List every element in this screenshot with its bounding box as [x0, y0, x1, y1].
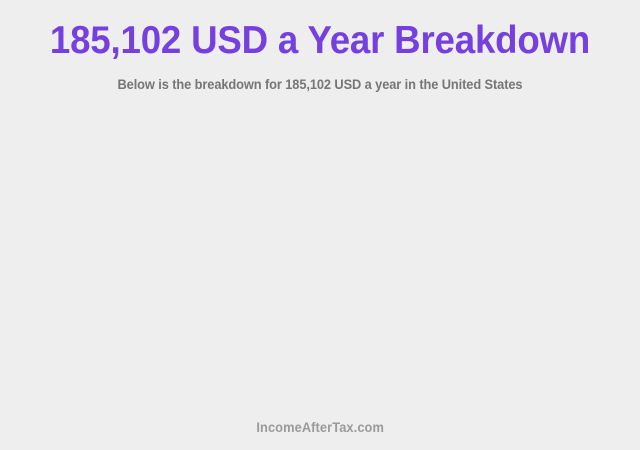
page-footer: IncomeAfterTax.com: [0, 419, 640, 450]
page-title: 185,102 USD a Year Breakdown: [19, 18, 621, 64]
page-subtitle: Below is the breakdown for 185,102 USD a…: [16, 64, 624, 93]
footer-site-brand[interactable]: IncomeAfterTax.com: [256, 420, 384, 436]
page-header: 185,102 USD a Year Breakdown Below is th…: [0, 0, 640, 93]
breakdown-content-area: [0, 93, 640, 419]
breakdown-page: 185,102 USD a Year Breakdown Below is th…: [0, 0, 640, 450]
